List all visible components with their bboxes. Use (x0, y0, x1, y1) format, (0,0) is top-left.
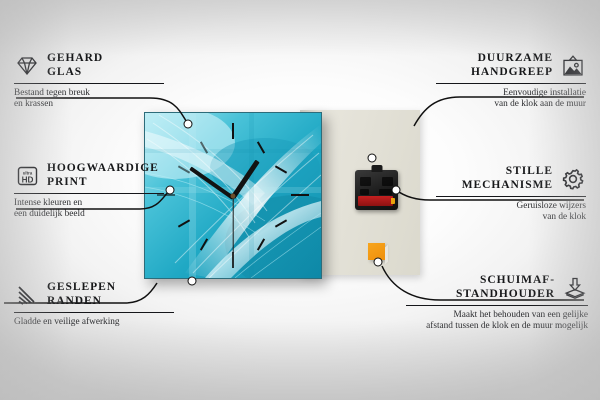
feature-title: GEHARD GLAS (47, 52, 103, 79)
feature-subtitle: Geruisloze wijzers van de klok (436, 201, 586, 224)
feature-subtitle: Maakt het behouden van een gelijke afsta… (406, 310, 588, 333)
callout-dot-schuimaf (374, 258, 383, 267)
press-down-pad-icon (562, 277, 588, 299)
feature-subtitle: Intense kleuren en een duidelijk beeld (14, 198, 164, 221)
feature-stille-mechanisme: STILLE MECHANISME Geruisloze wijzers van… (436, 165, 586, 223)
diamond-icon (14, 55, 40, 77)
ultra-hd-large-text: HD (22, 175, 34, 184)
feature-duurzame-handgreep: DUURZAME HANDGREEP Eenvoudige installati… (436, 52, 586, 110)
framed-picture-icon (560, 55, 586, 77)
feature-subtitle: Gladde en veilige afwerking (14, 317, 174, 328)
feature-hoogwaardige-print: ultra HD HOOGWAARDIGE PRINT Intense kleu… (14, 162, 164, 220)
callout-dot-stille-mechanisme (392, 186, 401, 195)
callout-dot-duurzame-handgreep (368, 154, 377, 163)
feature-title: HOOGWAARDIGE PRINT (47, 162, 159, 189)
feature-title: DUURZAME HANDGREEP (471, 52, 553, 79)
callout-dot-gehard-glas (184, 120, 193, 129)
title-rule (406, 305, 588, 306)
beveled-edge-icon (14, 284, 40, 306)
title-rule (14, 193, 164, 194)
ultra-hd-icon: ultra HD (14, 165, 40, 187)
feature-geslepen-randen: GESLEPEN RANDEN Gladde en veilige afwerk… (14, 281, 174, 328)
feature-schuimaf-standhouder: SCHUIMAF- STANDHOUDER Maakt het behouden… (406, 274, 588, 332)
feature-title: SCHUIMAF- STANDHOUDER (456, 274, 555, 301)
callout-dot-geslepen-randen (188, 277, 197, 286)
title-rule (436, 196, 586, 197)
title-rule (14, 83, 164, 84)
product-infographic: GEHARD GLAS Bestand tegen breuk en krass… (0, 0, 600, 400)
feature-subtitle: Eenvoudige installatie van de klok aan d… (436, 88, 586, 111)
feature-title: STILLE MECHANISME (462, 165, 553, 192)
gear-icon (560, 168, 586, 190)
feature-gehard-glas: GEHARD GLAS Bestand tegen breuk en krass… (14, 52, 164, 110)
title-rule (14, 312, 174, 313)
feature-subtitle: Bestand tegen breuk en krassen (14, 88, 164, 111)
feature-title: GESLEPEN RANDEN (47, 281, 116, 308)
title-rule (436, 83, 586, 84)
callout-dot-hoogwaardige-print (166, 186, 175, 195)
